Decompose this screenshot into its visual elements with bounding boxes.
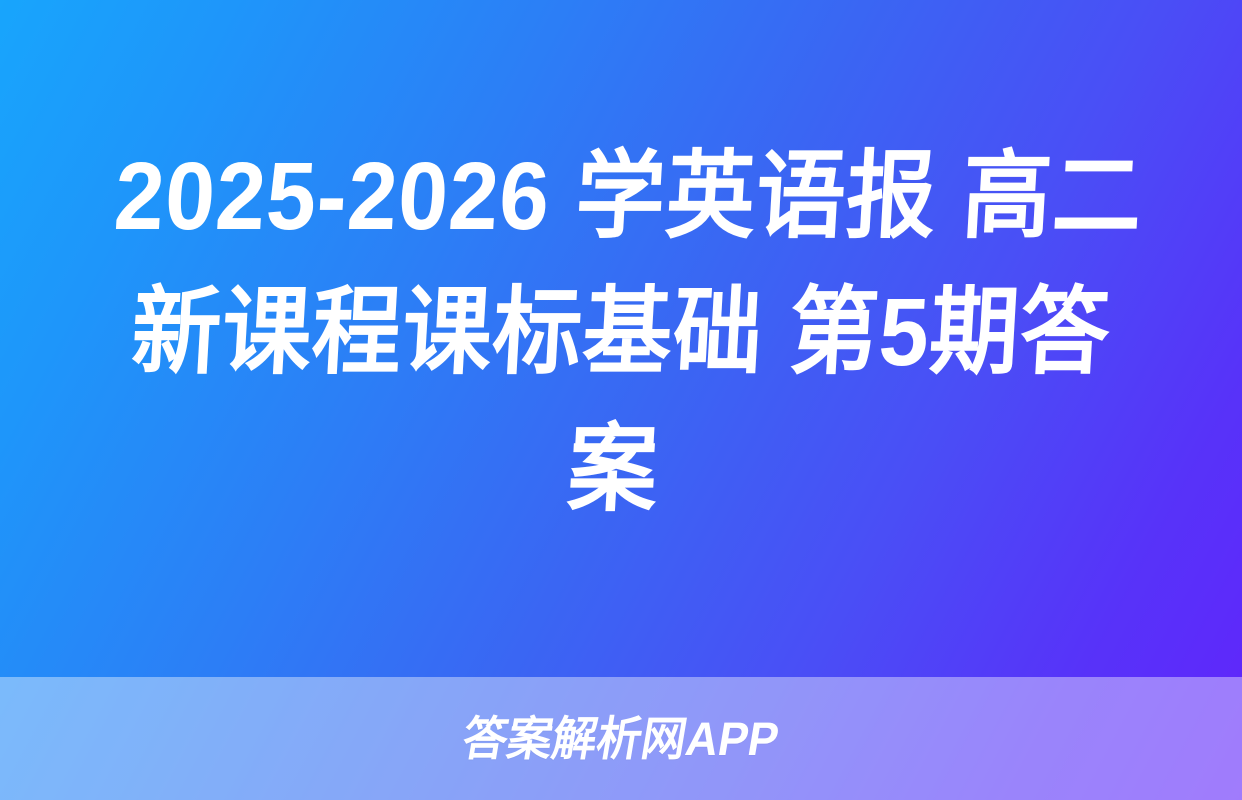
brand-watermark: 答案解析网APP [460,715,783,762]
title-area: 2025-2026 学英语报 高二 新课程课标基础 第5期答案 [0,0,1242,677]
page-title: 2025-2026 学英语报 高二 新课程课标基础 第5期答案 [89,129,1152,538]
answer-banner: 2025-2026 学英语报 高二 新课程课标基础 第5期答案 答案解析网APP [0,0,1242,800]
brand-footer-band: 答案解析网APP [0,677,1242,800]
